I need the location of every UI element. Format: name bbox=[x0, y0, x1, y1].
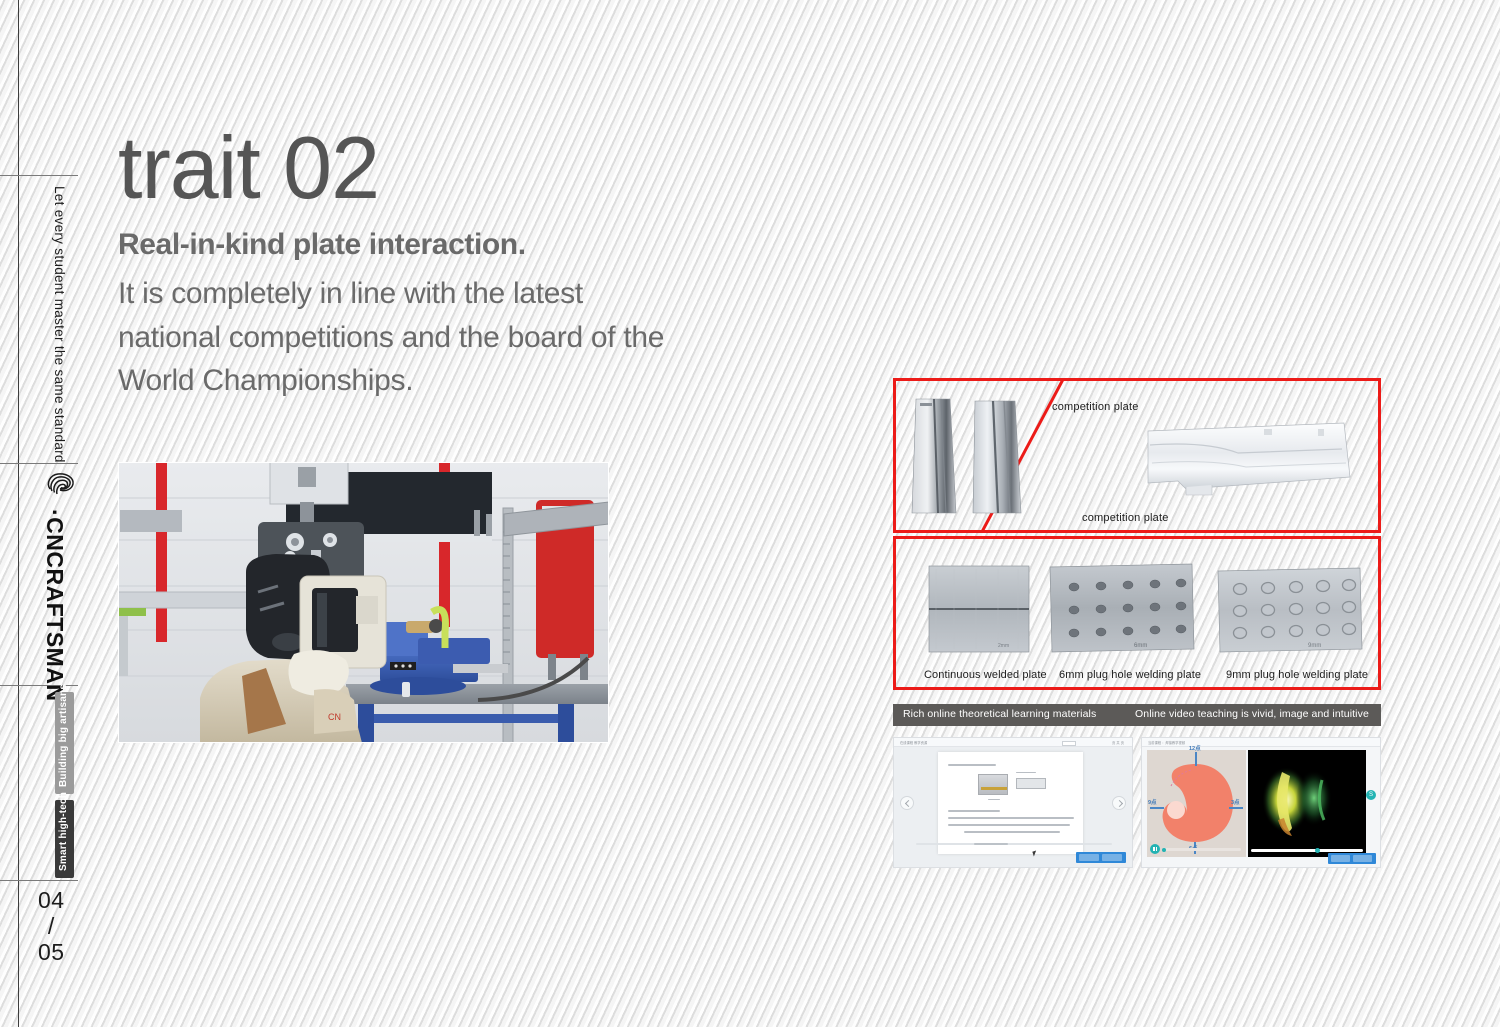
swirl-logo-icon bbox=[44, 470, 78, 500]
video-button-left[interactable] bbox=[1331, 855, 1350, 862]
doc-body-line-4 bbox=[964, 831, 1060, 833]
clock-axis-3 bbox=[1229, 807, 1243, 809]
doc-next-button[interactable] bbox=[1102, 854, 1122, 861]
plate-caption-9mm-plug-hole: 9mm plug hole welding plate bbox=[1226, 669, 1368, 681]
doc-page-input[interactable] bbox=[1062, 741, 1076, 746]
doc-figure-caption bbox=[988, 799, 1000, 800]
badge-smart-high-tech: Smart high-tech bbox=[55, 800, 74, 878]
video-status-dot bbox=[1162, 848, 1166, 852]
plate-image-continuous-welded: 2mm bbox=[928, 565, 1030, 653]
chevron-right-icon bbox=[1116, 799, 1123, 806]
badge-building-big-artisans: Building big artisans bbox=[55, 692, 74, 794]
doc-next-page-button[interactable] bbox=[1112, 796, 1126, 810]
page-number-total: 05 bbox=[38, 940, 65, 966]
screenshot-document-viewer[interactable]: 在线课程 教学资源 页 共 页 bbox=[893, 737, 1133, 868]
sidebar-tagline: Let every student master the same standa… bbox=[52, 186, 67, 463]
video-button-right[interactable] bbox=[1353, 855, 1372, 862]
doc-prev-page-button[interactable] bbox=[900, 796, 914, 810]
rail-vertical-line bbox=[18, 0, 19, 1027]
svg-text:2mm: 2mm bbox=[998, 643, 1009, 649]
plate-image-column-1 bbox=[910, 397, 958, 517]
doc-diagram-caption bbox=[1016, 772, 1036, 773]
doc-viewer-topbar-right-text: 页 共 页 bbox=[1112, 740, 1124, 745]
doc-pagination-buttons[interactable] bbox=[1076, 852, 1126, 863]
welding-arc-video-frame[interactable] bbox=[1248, 750, 1366, 857]
hero-photo-welder: CN bbox=[118, 462, 609, 743]
hero-photo-illustration: CN bbox=[118, 462, 609, 743]
doc-body-line-3 bbox=[948, 824, 1070, 826]
doc-body-line-1 bbox=[948, 810, 1000, 812]
doc-viewer-topbar bbox=[894, 738, 1132, 747]
plate-caption-top-right: competition plate bbox=[1082, 512, 1169, 524]
rail-divider-2 bbox=[0, 463, 78, 464]
pause-bar-left bbox=[1153, 847, 1154, 851]
competition-plate-panel-top: competition plate competition plate bbox=[893, 378, 1381, 533]
pause-bar-right bbox=[1156, 847, 1157, 851]
left-sidebar-rail: Let every student master the same standa… bbox=[0, 0, 110, 1027]
plate-image-column-2 bbox=[971, 399, 1023, 517]
doc-scrollbar-thumb[interactable] bbox=[974, 843, 1008, 846]
clock-label-12: 12点 bbox=[1189, 744, 1201, 752]
welding-arc-illustration bbox=[1248, 750, 1366, 857]
video-control-buttons[interactable] bbox=[1328, 853, 1376, 864]
plate-caption-6mm-plug-hole: 6mm plug hole welding plate bbox=[1059, 669, 1201, 681]
doc-embedded-diagram bbox=[1016, 778, 1046, 789]
video-share-badge[interactable]: S bbox=[1366, 790, 1376, 800]
clock-axis-12 bbox=[1195, 752, 1197, 766]
media-section-header-bar: Rich online theoretical learning materia… bbox=[893, 704, 1381, 726]
doc-page-canvas bbox=[938, 752, 1083, 854]
lede-bold-text: Real-in-kind plate interaction. bbox=[118, 228, 526, 262]
video-progress-bar-right[interactable] bbox=[1251, 849, 1363, 852]
rail-divider-4 bbox=[0, 880, 78, 881]
pause-icon[interactable] bbox=[1150, 844, 1160, 854]
doc-heading-line bbox=[948, 764, 996, 766]
plate-caption-continuous-welded: Continuous welded plate bbox=[924, 669, 1047, 681]
doc-horizontal-scrollbar[interactable] bbox=[916, 843, 1112, 846]
doc-embedded-photo-bar bbox=[981, 787, 1007, 790]
video-progress-bar-left[interactable] bbox=[1163, 848, 1241, 851]
svg-text:9mm: 9mm bbox=[1308, 643, 1321, 649]
brand-name: ·CNCRAFTSMAN bbox=[41, 509, 68, 702]
plate-caption-top-left: competition plate bbox=[1052, 401, 1139, 413]
plate-image-long-panel bbox=[1146, 419, 1352, 497]
doc-prev-button[interactable] bbox=[1079, 854, 1099, 861]
brand-name-text: CNCRAFTSMAN bbox=[42, 517, 68, 701]
page-number-separator: / bbox=[38, 914, 65, 940]
brand-block: ·CNCRAFTSMAN bbox=[42, 470, 78, 702]
doc-embedded-photo bbox=[978, 774, 1008, 795]
plate-image-9mm-plug-hole: 9mm bbox=[1216, 567, 1364, 653]
doc-viewer-topbar-left-text: 在线课程 教学资源 bbox=[900, 740, 927, 745]
brochure-page: Let every student master the same standa… bbox=[0, 0, 1500, 1027]
page-title: trait 02 bbox=[118, 124, 379, 212]
chevron-left-icon bbox=[905, 799, 912, 806]
svg-text:6mm: 6mm bbox=[1134, 643, 1147, 649]
screenshot-video-player[interactable]: 当前课程 ：焊接教学视频 12点 3点 6点 9点 bbox=[1141, 737, 1381, 868]
doc-body-line-2 bbox=[948, 817, 1074, 819]
page-number: 04 / 05 bbox=[38, 888, 65, 965]
clock-label-9: 9点 bbox=[1148, 798, 1157, 806]
page-number-current: 04 bbox=[38, 888, 65, 914]
rail-divider-1 bbox=[0, 175, 78, 176]
plate-image-6mm-plug-hole: 6mm bbox=[1048, 563, 1196, 653]
clock-axis-9 bbox=[1150, 807, 1164, 809]
brand-dot: · bbox=[42, 509, 68, 517]
media-bar-label-left: Rich online theoretical learning materia… bbox=[903, 708, 1096, 720]
svg-text:CN: CN bbox=[328, 712, 341, 722]
media-bar-label-right: Online video teaching is vivid, image an… bbox=[1135, 708, 1369, 720]
video-player-topbar-text: 当前课程 ：焊接教学视频 bbox=[1148, 740, 1185, 745]
clock-label-3: 3点 bbox=[1231, 798, 1240, 806]
welded-plate-panel-bottom: 2mm bbox=[893, 536, 1381, 690]
video-progress-knob[interactable] bbox=[1315, 848, 1320, 853]
lede-body-text: It is completely in line with the latest… bbox=[118, 272, 678, 403]
welding-clock-diagram: 12点 3点 6点 9点 bbox=[1147, 750, 1246, 857]
